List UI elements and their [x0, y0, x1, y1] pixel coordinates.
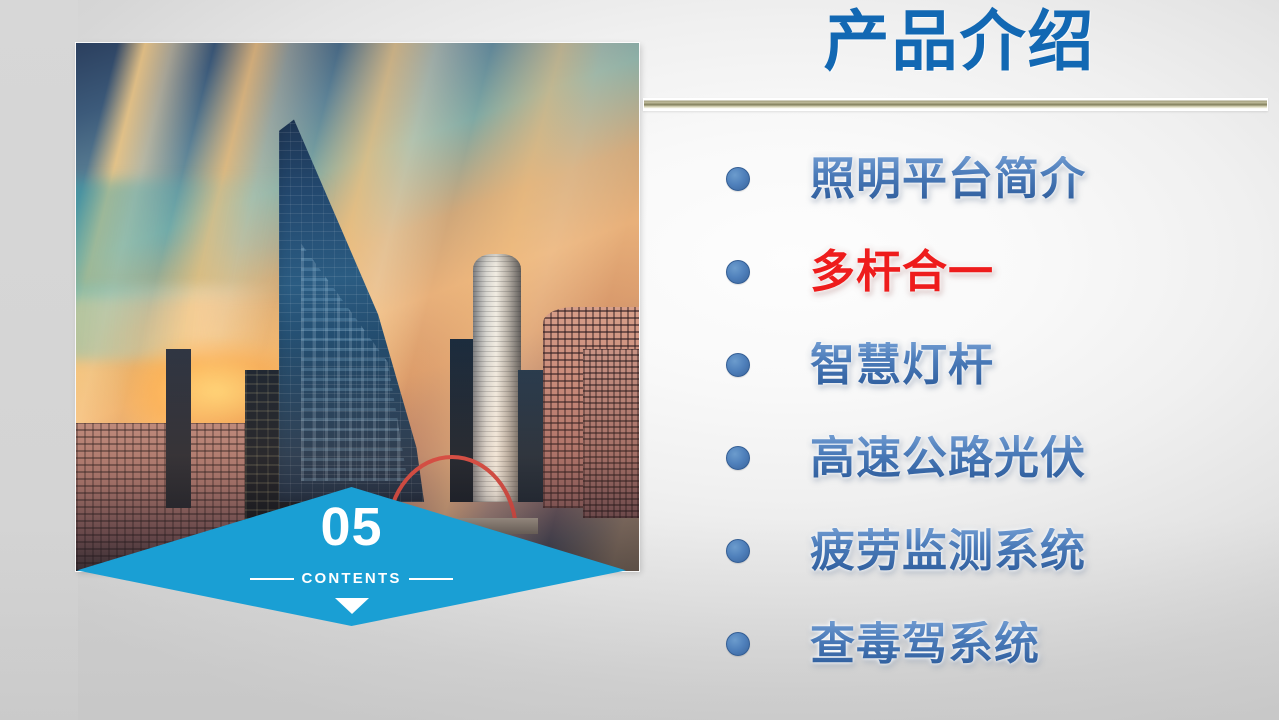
bullet-dot-icon	[726, 632, 750, 656]
list-item[interactable]: 多杆合一	[640, 225, 1279, 318]
list-item-label: 多杆合一	[810, 249, 994, 294]
contents-label-row: CONTENTS	[77, 570, 626, 587]
list-item[interactable]: 照明平台简介	[640, 132, 1279, 225]
list-item-label: 照明平台简介	[810, 156, 1086, 201]
list-item-label: 高速公路光伏	[810, 435, 1086, 480]
bullet-dot-icon	[726, 446, 750, 470]
section-number: 05	[77, 500, 626, 554]
list-item[interactable]: 疲劳监测系统	[640, 504, 1279, 597]
list-item-label: 疲劳监测系统	[810, 528, 1086, 573]
list-item-label: 智慧灯杆	[810, 342, 994, 387]
contents-label: CONTENTS	[301, 570, 401, 587]
list-item-label: 查毒驾系统	[810, 621, 1040, 666]
contents-rule-left	[250, 578, 294, 580]
bullet-dot-icon	[726, 260, 750, 284]
caret-down-icon	[77, 598, 626, 619]
bullet-dot-icon	[726, 167, 750, 191]
page-title: 产品介绍	[640, 4, 1279, 80]
bullet-dot-icon	[726, 539, 750, 563]
right-content-panel: 产品介绍 照明平台简介 多杆合一 智慧灯杆 高速公路光伏 疲劳监测系统	[640, 0, 1279, 720]
list-item[interactable]: 高速公路光伏	[640, 411, 1279, 504]
contents-rule-right	[409, 578, 453, 580]
title-divider	[643, 98, 1268, 111]
agenda-list: 照明平台简介 多杆合一 智慧灯杆 高速公路光伏 疲劳监测系统 查毒驾系统	[640, 132, 1279, 690]
presentation-slide: 05 CONTENTS 产品介绍 照明平台简介 多杆合一 智慧灯杆	[0, 0, 1279, 720]
bullet-dot-icon	[726, 353, 750, 377]
list-item[interactable]: 智慧灯杆	[640, 318, 1279, 411]
list-item[interactable]: 查毒驾系统	[640, 597, 1279, 690]
